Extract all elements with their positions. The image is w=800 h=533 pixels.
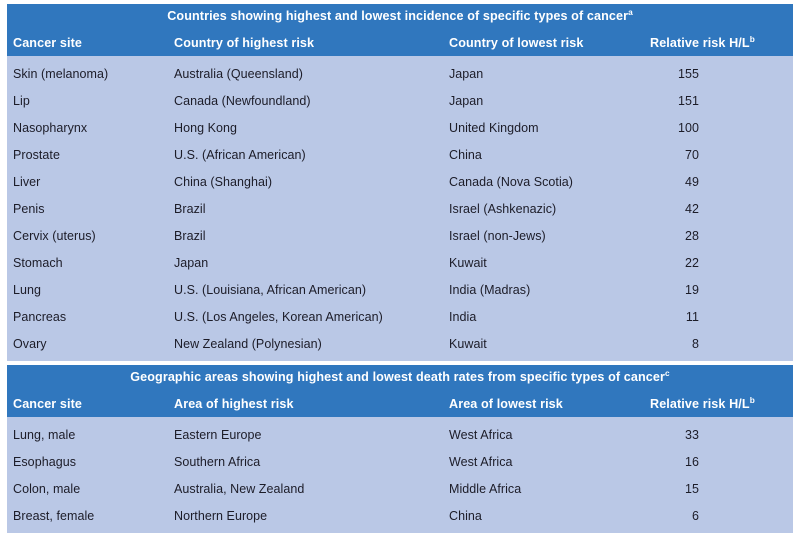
column-header-highest-risk: Area of highest risk <box>174 397 449 411</box>
cell-lowest-risk: Japan <box>449 94 650 108</box>
cell-highest-risk: Canada (Newfoundland) <box>174 94 449 108</box>
cell-relative-risk: 42 <box>650 202 786 216</box>
cell-relative-risk: 8 <box>650 337 786 351</box>
column-header-highest-risk: Country of highest risk <box>174 36 449 50</box>
cell-relative-risk: 15 <box>650 482 786 496</box>
cell-highest-risk: Australia (Queensland) <box>174 67 449 81</box>
column-header-lowest-risk: Area of lowest risk <box>449 397 650 411</box>
table-row: Ovary New Zealand (Polynesian) Kuwait 8 <box>7 330 793 357</box>
cell-cancer-site: Prostate <box>7 148 174 162</box>
cell-highest-risk: Brazil <box>174 229 449 243</box>
cell-cancer-site: Liver <box>7 175 174 189</box>
cell-lowest-risk: Middle Africa <box>449 482 650 496</box>
column-header-relative-risk: Relative risk H/Lb <box>650 36 786 50</box>
column-header-relative-risk-superscript: b <box>750 33 755 43</box>
table-row: Cervix (uterus) Brazil Israel (non-Jews)… <box>7 222 793 249</box>
table-row: Esophagus Southern Africa West Africa 16 <box>7 448 793 475</box>
cell-lowest-risk: Kuwait <box>449 256 650 270</box>
cell-relative-risk: 70 <box>650 148 786 162</box>
column-header-relative-risk: Relative risk H/Lb <box>650 397 786 411</box>
table-row: Lung U.S. (Louisiana, African American) … <box>7 276 793 303</box>
table-incidence-column-header: Cancer site Country of highest risk Coun… <box>7 29 793 56</box>
table-row: Colon, male Australia, New Zealand Middl… <box>7 475 793 502</box>
table-row: Breast, female Northern Europe China 6 <box>7 502 793 529</box>
table-incidence-body: Skin (melanoma) Australia (Queensland) J… <box>7 56 793 361</box>
table-row: Lip Canada (Newfoundland) Japan 151 <box>7 87 793 114</box>
cell-relative-risk: 22 <box>650 256 786 270</box>
cell-relative-risk: 16 <box>650 455 786 469</box>
table-row: Penis Brazil Israel (Ashkenazic) 42 <box>7 195 793 222</box>
table-death-rates-column-header: Cancer site Area of highest risk Area of… <box>7 390 793 417</box>
cell-cancer-site: Breast, female <box>7 509 174 523</box>
column-header-lowest-risk: Country of lowest risk <box>449 36 650 50</box>
cell-lowest-risk: Israel (non-Jews) <box>449 229 650 243</box>
table-death-rates-title-superscript: c <box>665 368 670 378</box>
table-incidence: Countries showing highest and lowest inc… <box>7 4 793 361</box>
table-row: Liver China (Shanghai) Canada (Nova Scot… <box>7 168 793 195</box>
column-header-relative-risk-text: Relative risk H/L <box>650 36 750 50</box>
cell-relative-risk: 6 <box>650 509 786 523</box>
column-header-cancer-site: Cancer site <box>7 36 174 50</box>
table-row: Lung, male Eastern Europe West Africa 33 <box>7 421 793 448</box>
cell-highest-risk: Australia, New Zealand <box>174 482 449 496</box>
cell-highest-risk: New Zealand (Polynesian) <box>174 337 449 351</box>
cell-lowest-risk: India <box>449 310 650 324</box>
cell-relative-risk: 33 <box>650 428 786 442</box>
cell-cancer-site: Lip <box>7 94 174 108</box>
cell-highest-risk: Brazil <box>174 202 449 216</box>
table-row: Pancreas U.S. (Los Angeles, Korean Ameri… <box>7 303 793 330</box>
cell-cancer-site: Ovary <box>7 337 174 351</box>
cell-lowest-risk: Kuwait <box>449 337 650 351</box>
cell-lowest-risk: United Kingdom <box>449 121 650 135</box>
table-death-rates: Geographic areas showing highest and low… <box>7 365 793 533</box>
table-row: Skin (melanoma) Australia (Queensland) J… <box>7 60 793 87</box>
cell-relative-risk: 151 <box>650 94 786 108</box>
page-root: Countries showing highest and lowest inc… <box>0 0 800 527</box>
cell-relative-risk: 100 <box>650 121 786 135</box>
cell-relative-risk: 49 <box>650 175 786 189</box>
cell-lowest-risk: China <box>449 509 650 523</box>
cell-cancer-site: Lung <box>7 283 174 297</box>
cell-relative-risk: 11 <box>650 310 786 324</box>
cell-relative-risk: 28 <box>650 229 786 243</box>
cell-cancer-site: Pancreas <box>7 310 174 324</box>
table-row: Prostate U.S. (African American) China 7… <box>7 141 793 168</box>
cell-lowest-risk: Canada (Nova Scotia) <box>449 175 650 189</box>
cell-highest-risk: Hong Kong <box>174 121 449 135</box>
cell-relative-risk: 19 <box>650 283 786 297</box>
table-death-rates-title-text: Geographic areas showing highest and low… <box>130 370 665 384</box>
column-header-relative-risk-text: Relative risk H/L <box>650 397 750 411</box>
column-header-cancer-site: Cancer site <box>7 397 174 411</box>
table-incidence-title-superscript: a <box>628 7 633 17</box>
cell-highest-risk: U.S. (Louisiana, African American) <box>174 283 449 297</box>
cell-cancer-site: Colon, male <box>7 482 174 496</box>
cell-cancer-site: Cervix (uterus) <box>7 229 174 243</box>
cell-cancer-site: Skin (melanoma) <box>7 67 174 81</box>
cell-cancer-site: Lung, male <box>7 428 174 442</box>
table-death-rates-title: Geographic areas showing highest and low… <box>7 365 793 390</box>
cell-lowest-risk: West Africa <box>449 428 650 442</box>
cell-lowest-risk: China <box>449 148 650 162</box>
cell-cancer-site: Esophagus <box>7 455 174 469</box>
cell-cancer-site: Stomach <box>7 256 174 270</box>
cell-cancer-site: Penis <box>7 202 174 216</box>
table-incidence-title: Countries showing highest and lowest inc… <box>7 4 793 29</box>
table-row: Nasopharynx Hong Kong United Kingdom 100 <box>7 114 793 141</box>
cell-highest-risk: China (Shanghai) <box>174 175 449 189</box>
cell-highest-risk: U.S. (African American) <box>174 148 449 162</box>
cell-highest-risk: Eastern Europe <box>174 428 449 442</box>
table-death-rates-body: Lung, male Eastern Europe West Africa 33… <box>7 417 793 533</box>
cell-highest-risk: U.S. (Los Angeles, Korean American) <box>174 310 449 324</box>
cell-lowest-risk: Israel (Ashkenazic) <box>449 202 650 216</box>
cell-lowest-risk: West Africa <box>449 455 650 469</box>
cell-lowest-risk: Japan <box>449 67 650 81</box>
cell-highest-risk: Southern Africa <box>174 455 449 469</box>
cell-cancer-site: Nasopharynx <box>7 121 174 135</box>
cell-highest-risk: Japan <box>174 256 449 270</box>
cell-highest-risk: Northern Europe <box>174 509 449 523</box>
cell-lowest-risk: India (Madras) <box>449 283 650 297</box>
column-header-relative-risk-superscript: b <box>750 394 755 404</box>
table-row: Stomach Japan Kuwait 22 <box>7 249 793 276</box>
cell-relative-risk: 155 <box>650 67 786 81</box>
table-incidence-title-text: Countries showing highest and lowest inc… <box>167 9 628 23</box>
